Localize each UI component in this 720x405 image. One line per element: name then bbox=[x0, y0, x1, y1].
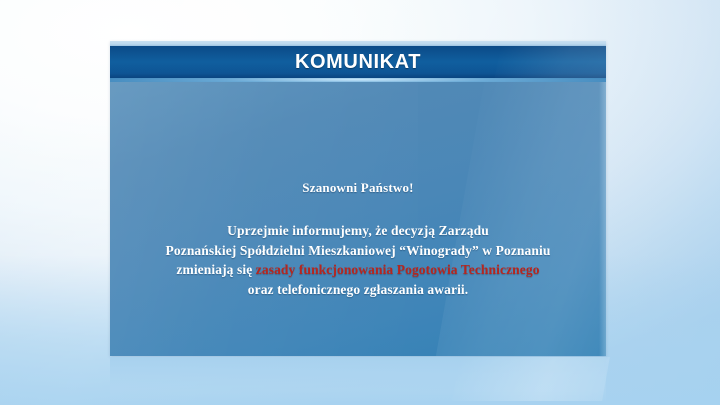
announcement-slide: KOMUNIKAT Szanowni Państwo! Uprzejmie in… bbox=[0, 0, 720, 405]
reflection-sheen bbox=[452, 357, 610, 401]
panel-header-bar: KOMUNIKAT bbox=[110, 46, 606, 78]
message-line-3-prefix: zmieniają się bbox=[176, 262, 255, 277]
message-paragraph: Uprzejmie informujemy, że decyzją Zarząd… bbox=[110, 221, 606, 299]
page-title: KOMUNIKAT bbox=[110, 46, 606, 78]
announcement-panel: KOMUNIKAT Szanowni Państwo! Uprzejmie in… bbox=[110, 41, 606, 356]
message-line-3: zmieniają się zasady funkcjonowania Pogo… bbox=[110, 260, 606, 280]
message-line-1-text: Uprzejmie informujemy, że decyzją Zarząd… bbox=[227, 223, 489, 238]
salutation-text: Szanowni Państwo! bbox=[110, 180, 606, 196]
message-line-2-text: Poznańskiej Spółdzielni Mieszkaniowej “W… bbox=[166, 243, 551, 258]
salutation-label: Szanowni Państwo! bbox=[302, 180, 413, 195]
message-line-1: Uprzejmie informujemy, że decyzją Zarząd… bbox=[110, 221, 606, 241]
body-sheen-diagonal bbox=[421, 82, 606, 356]
body-sheen-left bbox=[110, 82, 418, 356]
body-edge-highlight bbox=[599, 82, 606, 356]
message-line-4: oraz telefonicznego zgłaszania awarii. bbox=[110, 280, 606, 300]
message-line-2: Poznańskiej Spółdzielni Mieszkaniowej “W… bbox=[110, 241, 606, 261]
message-line-3-highlight: zasady funkcjonowania Pogotowia Technicz… bbox=[256, 262, 540, 277]
panel-body: Szanowni Państwo! Uprzejmie informujemy,… bbox=[110, 82, 606, 356]
message-line-4-text: oraz telefonicznego zgłaszania awarii. bbox=[248, 282, 469, 297]
panel-reflection bbox=[110, 357, 606, 401]
